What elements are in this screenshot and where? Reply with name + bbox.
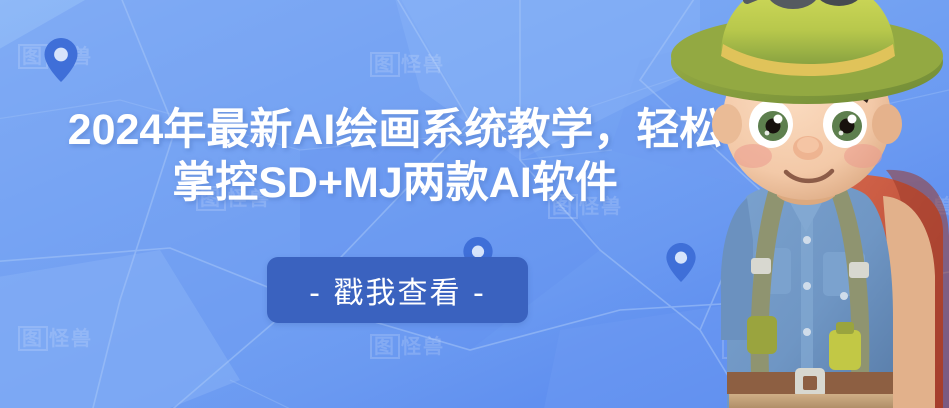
explorer-boy-figure: [643, 0, 949, 408]
cta-button[interactable]: - 戳我查看 -: [267, 257, 528, 323]
promo-banner: 图怪兽 图怪兽 图怪兽 图怪兽 图怪兽 图怪兽 图怪兽 图怪兽 图怪兽 2024…: [0, 0, 949, 408]
cartoon-explorer-boy-illustration: [643, 0, 949, 408]
cta-button-label: - 戳我查看 -: [309, 268, 486, 312]
